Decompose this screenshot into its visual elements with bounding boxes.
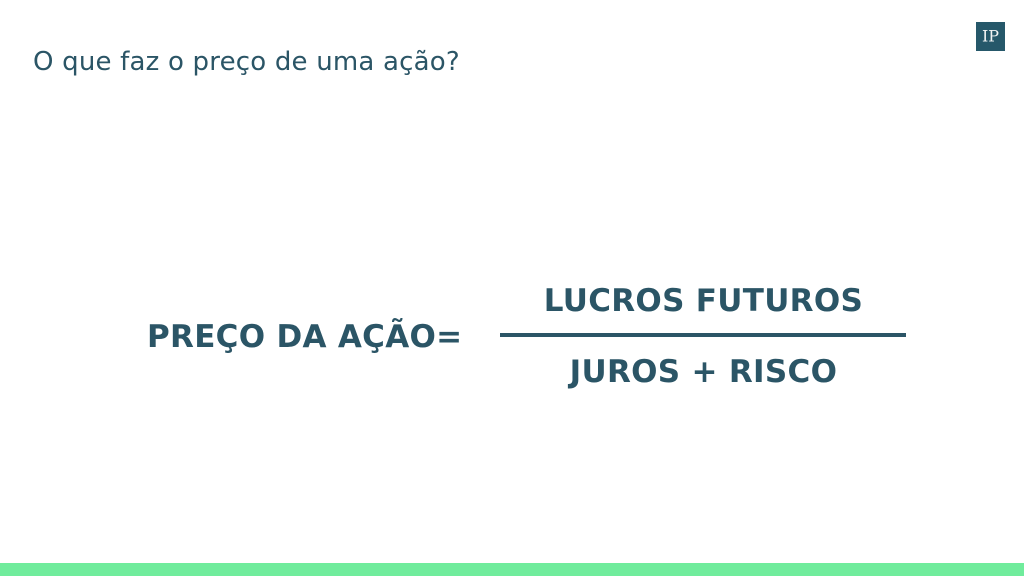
fraction-denominator: JUROS + RISCO (570, 357, 838, 388)
footer-accent-band (0, 563, 1024, 576)
fraction: LUCROS FUTUROS JUROS + RISCO (500, 286, 906, 388)
formula-block: PREÇO DA AÇÃO= LUCROS FUTUROS JUROS + RI… (0, 262, 1024, 412)
formula-left-expression: PREÇO DA AÇÃO= (147, 322, 462, 353)
fraction-numerator: LUCROS FUTUROS (544, 286, 863, 317)
brand-logo: IP (976, 22, 1005, 51)
fraction-bar (500, 333, 906, 337)
brand-logo-label: IP (982, 28, 999, 44)
slide-canvas: O que faz o preço de uma ação? IP PREÇO … (0, 0, 1024, 576)
page-title: O que faz o preço de uma ação? (33, 46, 460, 80)
